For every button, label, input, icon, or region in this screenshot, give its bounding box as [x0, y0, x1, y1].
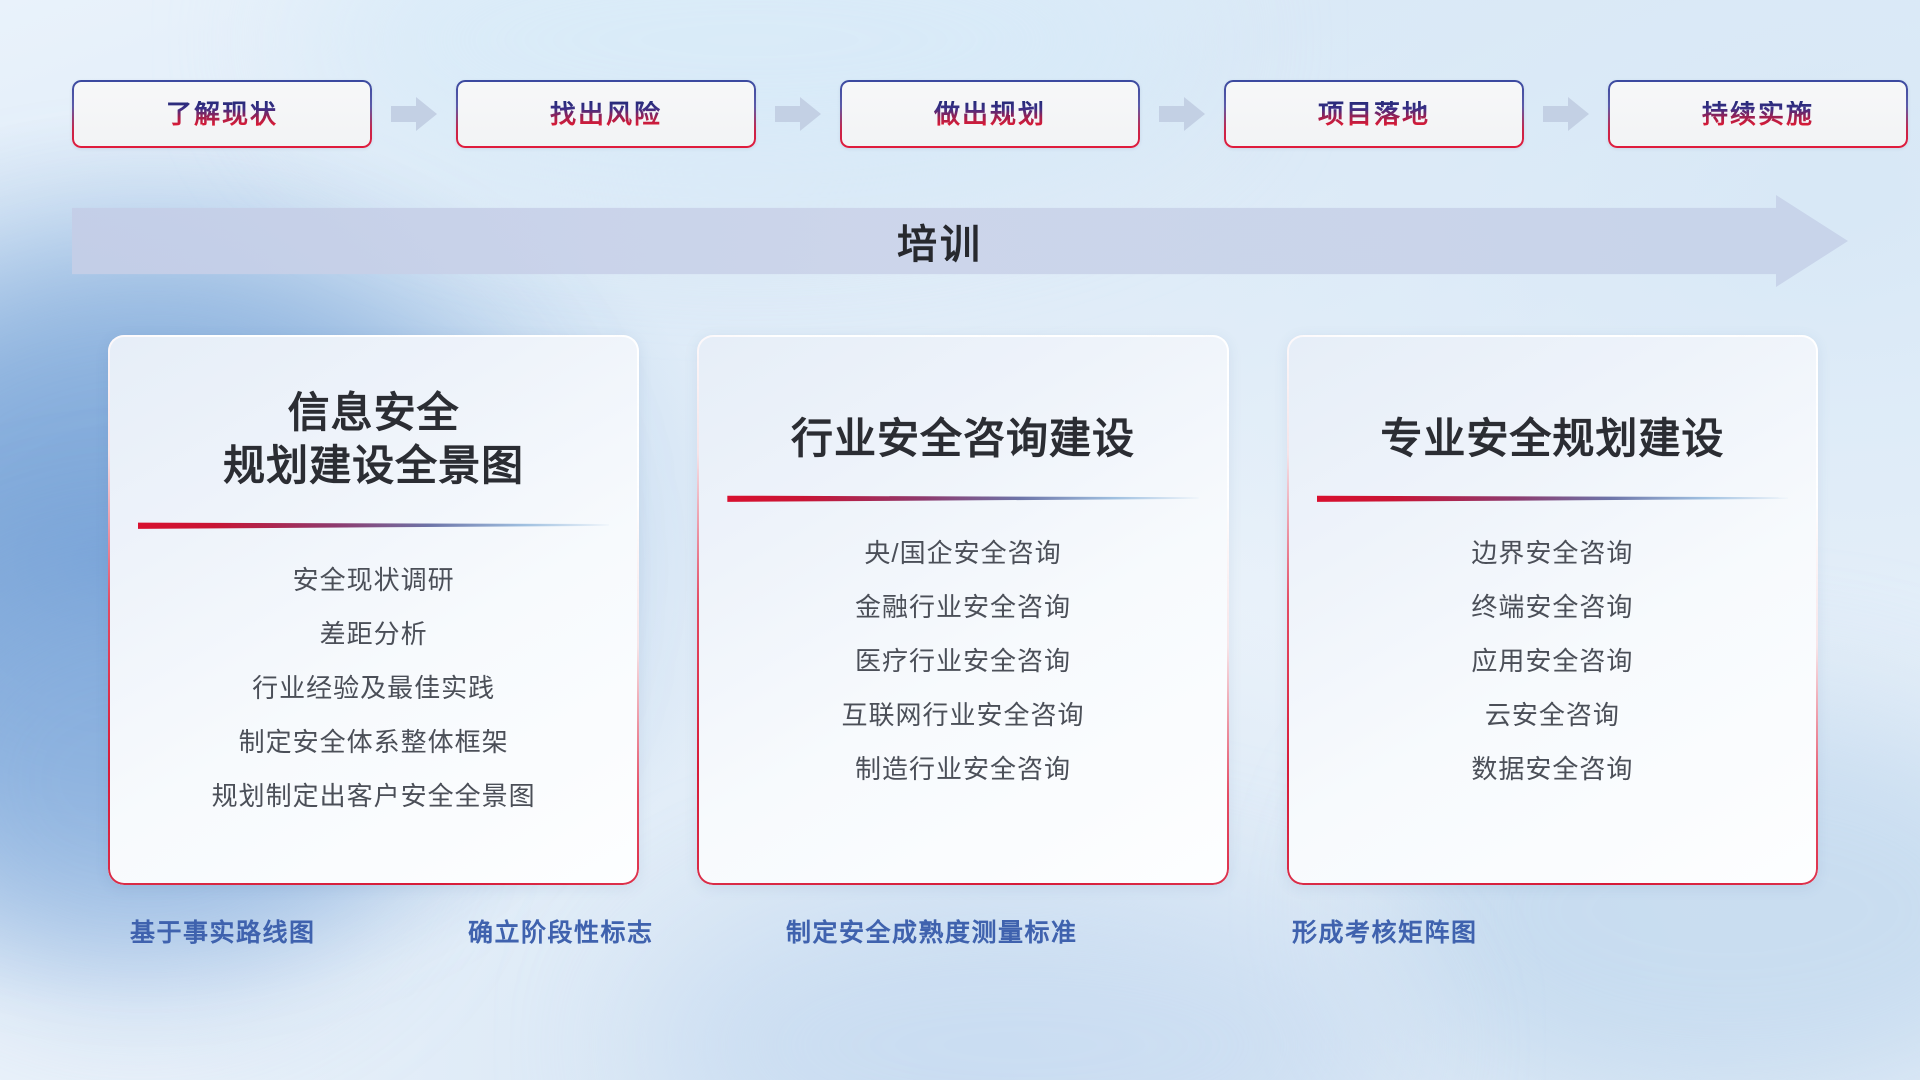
- process-step-label: 了解现状: [166, 101, 278, 127]
- process-step-1[interactable]: 找出风险: [456, 80, 756, 148]
- list-item: 行业经验及最佳实践: [138, 661, 609, 715]
- list-item: 规划制定出客户安全全景图: [138, 769, 609, 823]
- process-step-4[interactable]: 持续实施: [1608, 80, 1908, 148]
- list-item: 央/国企安全咨询: [727, 526, 1198, 580]
- list-item: 数据安全咨询: [1317, 742, 1788, 796]
- process-step-label: 持续实施: [1702, 101, 1814, 127]
- list-item: 安全现状调研: [138, 553, 609, 607]
- arrow-right-icon: [772, 94, 824, 134]
- list-item: 云安全咨询: [1317, 688, 1788, 742]
- banner-title: 培训: [72, 195, 1848, 287]
- list-item: 制造行业安全咨询: [727, 742, 1198, 796]
- process-step-0[interactable]: 了解现状: [72, 80, 372, 148]
- card-item-list: 边界安全咨询 终端安全咨询 应用安全咨询 云安全咨询 数据安全咨询: [1317, 512, 1788, 796]
- slide-canvas: 了解现状 找出风险 做出规划 项目落地: [0, 0, 1920, 1080]
- process-step-label: 项目落地: [1318, 101, 1430, 127]
- list-item: 互联网行业安全咨询: [727, 688, 1198, 742]
- footer-label-2: 制定安全成熟度测量标准: [786, 915, 1078, 951]
- list-item: 差距分析: [138, 607, 609, 661]
- card-item-list: 安全现状调研 差距分析 行业经验及最佳实践 制定安全体系整体框架 规划制定出客户…: [138, 539, 609, 823]
- service-card-row: 信息安全 规划建设全景图 安全现状调研 差距分析 行业经验及最佳实践 制定安全体…: [108, 335, 1818, 885]
- service-card-2[interactable]: 专业安全规划建设 边界安全咨询 终端安全咨询 应用安全咨询 云安全咨询 数据安全…: [1287, 335, 1818, 885]
- list-item: 制定安全体系整体框架: [138, 715, 609, 769]
- arrow-right-icon: [388, 94, 440, 134]
- card-title: 行业安全咨询建设: [791, 413, 1135, 466]
- background-blob: [640, 880, 1400, 1080]
- card-title: 专业安全规划建设: [1380, 413, 1724, 466]
- list-item: 金融行业安全咨询: [727, 580, 1198, 634]
- process-step-label: 找出风险: [550, 101, 662, 127]
- list-item: 边界安全咨询: [1317, 526, 1788, 580]
- process-step-3[interactable]: 项目落地: [1224, 80, 1524, 148]
- card-divider: [138, 519, 609, 529]
- arrow-right-icon: [1540, 94, 1592, 134]
- footer-label-3: 形成考核矩阵图: [1292, 915, 1478, 951]
- process-step-row: 了解现状 找出风险 做出规划 项目落地: [72, 80, 1848, 148]
- list-item: 应用安全咨询: [1317, 634, 1788, 688]
- training-banner: 培训: [72, 195, 1848, 287]
- list-item: 医疗行业安全咨询: [727, 634, 1198, 688]
- footer-label-row: 基于事实路线图 确立阶段性标志 制定安全成熟度测量标准 形成考核矩阵图: [0, 915, 1920, 963]
- process-step-2[interactable]: 做出规划: [840, 80, 1140, 148]
- list-item: 终端安全咨询: [1317, 580, 1788, 634]
- card-divider: [727, 492, 1198, 502]
- card-title: 信息安全 规划建设全景图: [223, 387, 524, 493]
- card-item-list: 央/国企安全咨询 金融行业安全咨询 医疗行业安全咨询 互联网行业安全咨询 制造行…: [727, 512, 1198, 796]
- service-card-0[interactable]: 信息安全 规划建设全景图 安全现状调研 差距分析 行业经验及最佳实践 制定安全体…: [108, 335, 639, 885]
- arrow-right-icon: [1156, 94, 1208, 134]
- service-card-1[interactable]: 行业安全咨询建设 央/国企安全咨询 金融行业安全咨询 医疗行业安全咨询 互联网行…: [697, 335, 1228, 885]
- footer-label-0: 基于事实路线图: [130, 915, 316, 951]
- footer-label-1: 确立阶段性标志: [468, 915, 654, 951]
- process-step-label: 做出规划: [934, 101, 1046, 127]
- card-divider: [1317, 492, 1788, 502]
